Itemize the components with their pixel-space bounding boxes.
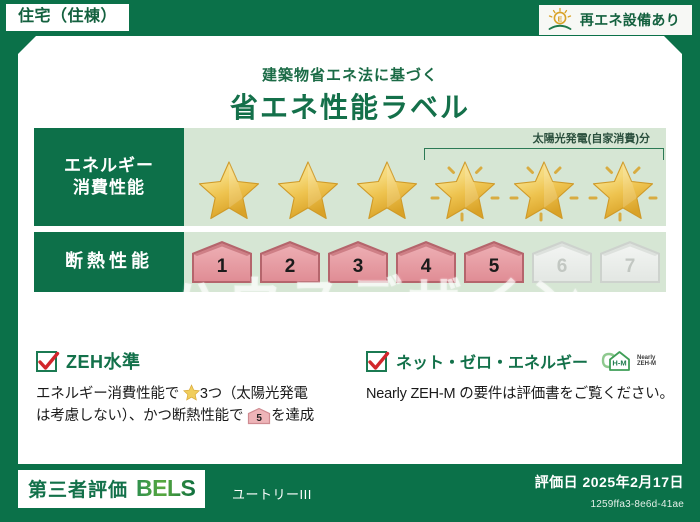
zeh-m-house-icon: H-M <box>601 348 635 374</box>
star-1 <box>192 156 266 222</box>
project-name: ユートリーIII <box>232 484 312 503</box>
insulation-level-number: 6 <box>530 256 594 278</box>
insulation-level-5: 5 <box>462 239 526 285</box>
star-2 <box>271 156 345 222</box>
star-6 <box>586 156 660 222</box>
nze-check-header: ネット・ゼロ・エネルギー H-M Nearly ZEH-M <box>366 348 688 374</box>
energy-label-line1: エネルギー <box>64 155 154 177</box>
evaluation-date: 評価日 2025年2月17日 <box>535 472 684 492</box>
zeh-m-logo-caption: Nearly ZEH-M <box>637 355 656 368</box>
renewable-equipment-badge: E 再エネ設備あり <box>539 5 692 35</box>
insulation-level-number: 1 <box>190 256 254 278</box>
zeh-standard-check: ZEH水準 エネルギー消費性能で 3つ（太陽光発電 は考慮しない）、かつ断熱性能… <box>36 348 358 428</box>
insulation-level-number: 4 <box>394 256 458 278</box>
inline-house-value: 5 <box>247 411 271 427</box>
insulation-level-6: 6 <box>530 239 594 285</box>
insulation-level-2: 2 <box>258 239 322 285</box>
certification-checks: ZEH水準 エネルギー消費性能で 3つ（太陽光発電 は考慮しない）、かつ断熱性能… <box>18 348 682 464</box>
bels-badge: 第三者評価 BELS <box>18 470 205 508</box>
star-icon <box>192 156 266 222</box>
energy-performance-label: 住宅（住棟） E 再エネ設備あり <box>0 0 700 522</box>
star-5 <box>507 156 581 222</box>
insulation-level-number: 3 <box>326 256 390 278</box>
nze-check-description: Nearly ZEH-M の要件は評価書をご覧ください。 <box>366 383 688 405</box>
star-icon <box>271 156 345 222</box>
inline-house-icon: 5 <box>247 407 271 425</box>
checkbox-checked-icon <box>36 351 57 372</box>
insulation-performance-row: 断熱性能 1 <box>34 232 666 292</box>
label-subtitle: 建築物省エネ法に基づく <box>18 64 682 85</box>
zeh-check-description: エネルギー消費性能で 3つ（太陽光発電 は考慮しない）、かつ断熱性能で 5 <box>36 383 358 428</box>
inline-star-icon <box>183 384 200 401</box>
page-title: 省エネ性能ラベル <box>18 86 682 126</box>
insulation-level-number: 5 <box>462 256 526 278</box>
star-icon <box>507 156 581 222</box>
insulation-label-cell: 断熱性能 <box>34 232 184 292</box>
insulation-level-1: 1 <box>190 239 254 285</box>
nze-check-title: ネット・ゼロ・エネルギー <box>396 349 588 373</box>
checkbox-checked-icon <box>366 351 387 372</box>
evaluation-id: 1259ffa3-8e6d-41ae <box>591 499 685 510</box>
renewable-badge-label: 再エネ設備あり <box>580 10 680 30</box>
zeh-desc-part1: エネルギー消費性能で <box>36 386 179 402</box>
svg-text:E: E <box>558 16 563 23</box>
zeh-desc-star-count: 3つ（太陽光発電 <box>200 386 308 402</box>
insulation-level-number: 7 <box>598 256 662 278</box>
svg-text:H-M: H-M <box>612 359 626 368</box>
solar-bracket <box>424 148 664 160</box>
star-rating <box>192 156 660 222</box>
zeh-m-caption-line2: ZEH-M <box>637 361 656 367</box>
solar-sun-icon: E <box>547 7 573 33</box>
energy-performance-row: エネルギー 消費性能 太陽光発電(自家消費)分 <box>34 128 666 226</box>
zeh-check-header: ZEH水準 <box>36 348 358 374</box>
insulation-levels-area: 1 2 <box>184 232 666 292</box>
star-3 <box>350 156 424 222</box>
bels-en-label: BELS <box>136 475 195 502</box>
insulation-level-4: 4 <box>394 239 458 285</box>
evaluation-date-value: 2025年2月17日 <box>582 474 684 490</box>
insulation-level-number: 2 <box>258 256 322 278</box>
net-zero-energy-check: ネット・ゼロ・エネルギー H-M Nearly ZEH-M <box>366 348 688 405</box>
housing-type-tag: 住宅（住棟） <box>6 4 129 31</box>
insulation-level-scale: 1 2 <box>184 232 666 292</box>
evaluation-date-label: 評価日 <box>535 474 579 490</box>
energy-label-line2: 消費性能 <box>73 177 145 199</box>
insulation-level-7: 7 <box>598 239 662 285</box>
zeh-check-title: ZEH水準 <box>66 348 141 374</box>
zeh-desc-part3: を達成 <box>271 408 314 424</box>
energy-performance-label-cell: エネルギー 消費性能 <box>34 128 184 226</box>
label-card: 建築物省エネ法に基づく 省エネ性能ラベル エネルギー 消費性能 太陽光発電(自家… <box>18 36 682 464</box>
star-icon <box>350 156 424 222</box>
star-icon <box>428 156 502 222</box>
energy-stars-area: 太陽光発電(自家消費)分 <box>184 128 666 226</box>
zeh-m-caption-line1: Nearly <box>637 355 655 361</box>
zeh-desc-part2: は考慮しない）、かつ断熱性能で <box>36 408 243 424</box>
footer-bar: 第三者評価 BELS ユートリーIII 評価日 2025年2月17日 1259f… <box>0 464 700 522</box>
star-4 <box>428 156 502 222</box>
solar-bracket-label: 太陽光発電(自家消費)分 <box>533 130 650 146</box>
zeh-m-logo: H-M Nearly ZEH-M <box>601 348 656 374</box>
star-icon <box>586 156 660 222</box>
bels-jp-label: 第三者評価 <box>28 475 128 502</box>
insulation-level-3: 3 <box>326 239 390 285</box>
